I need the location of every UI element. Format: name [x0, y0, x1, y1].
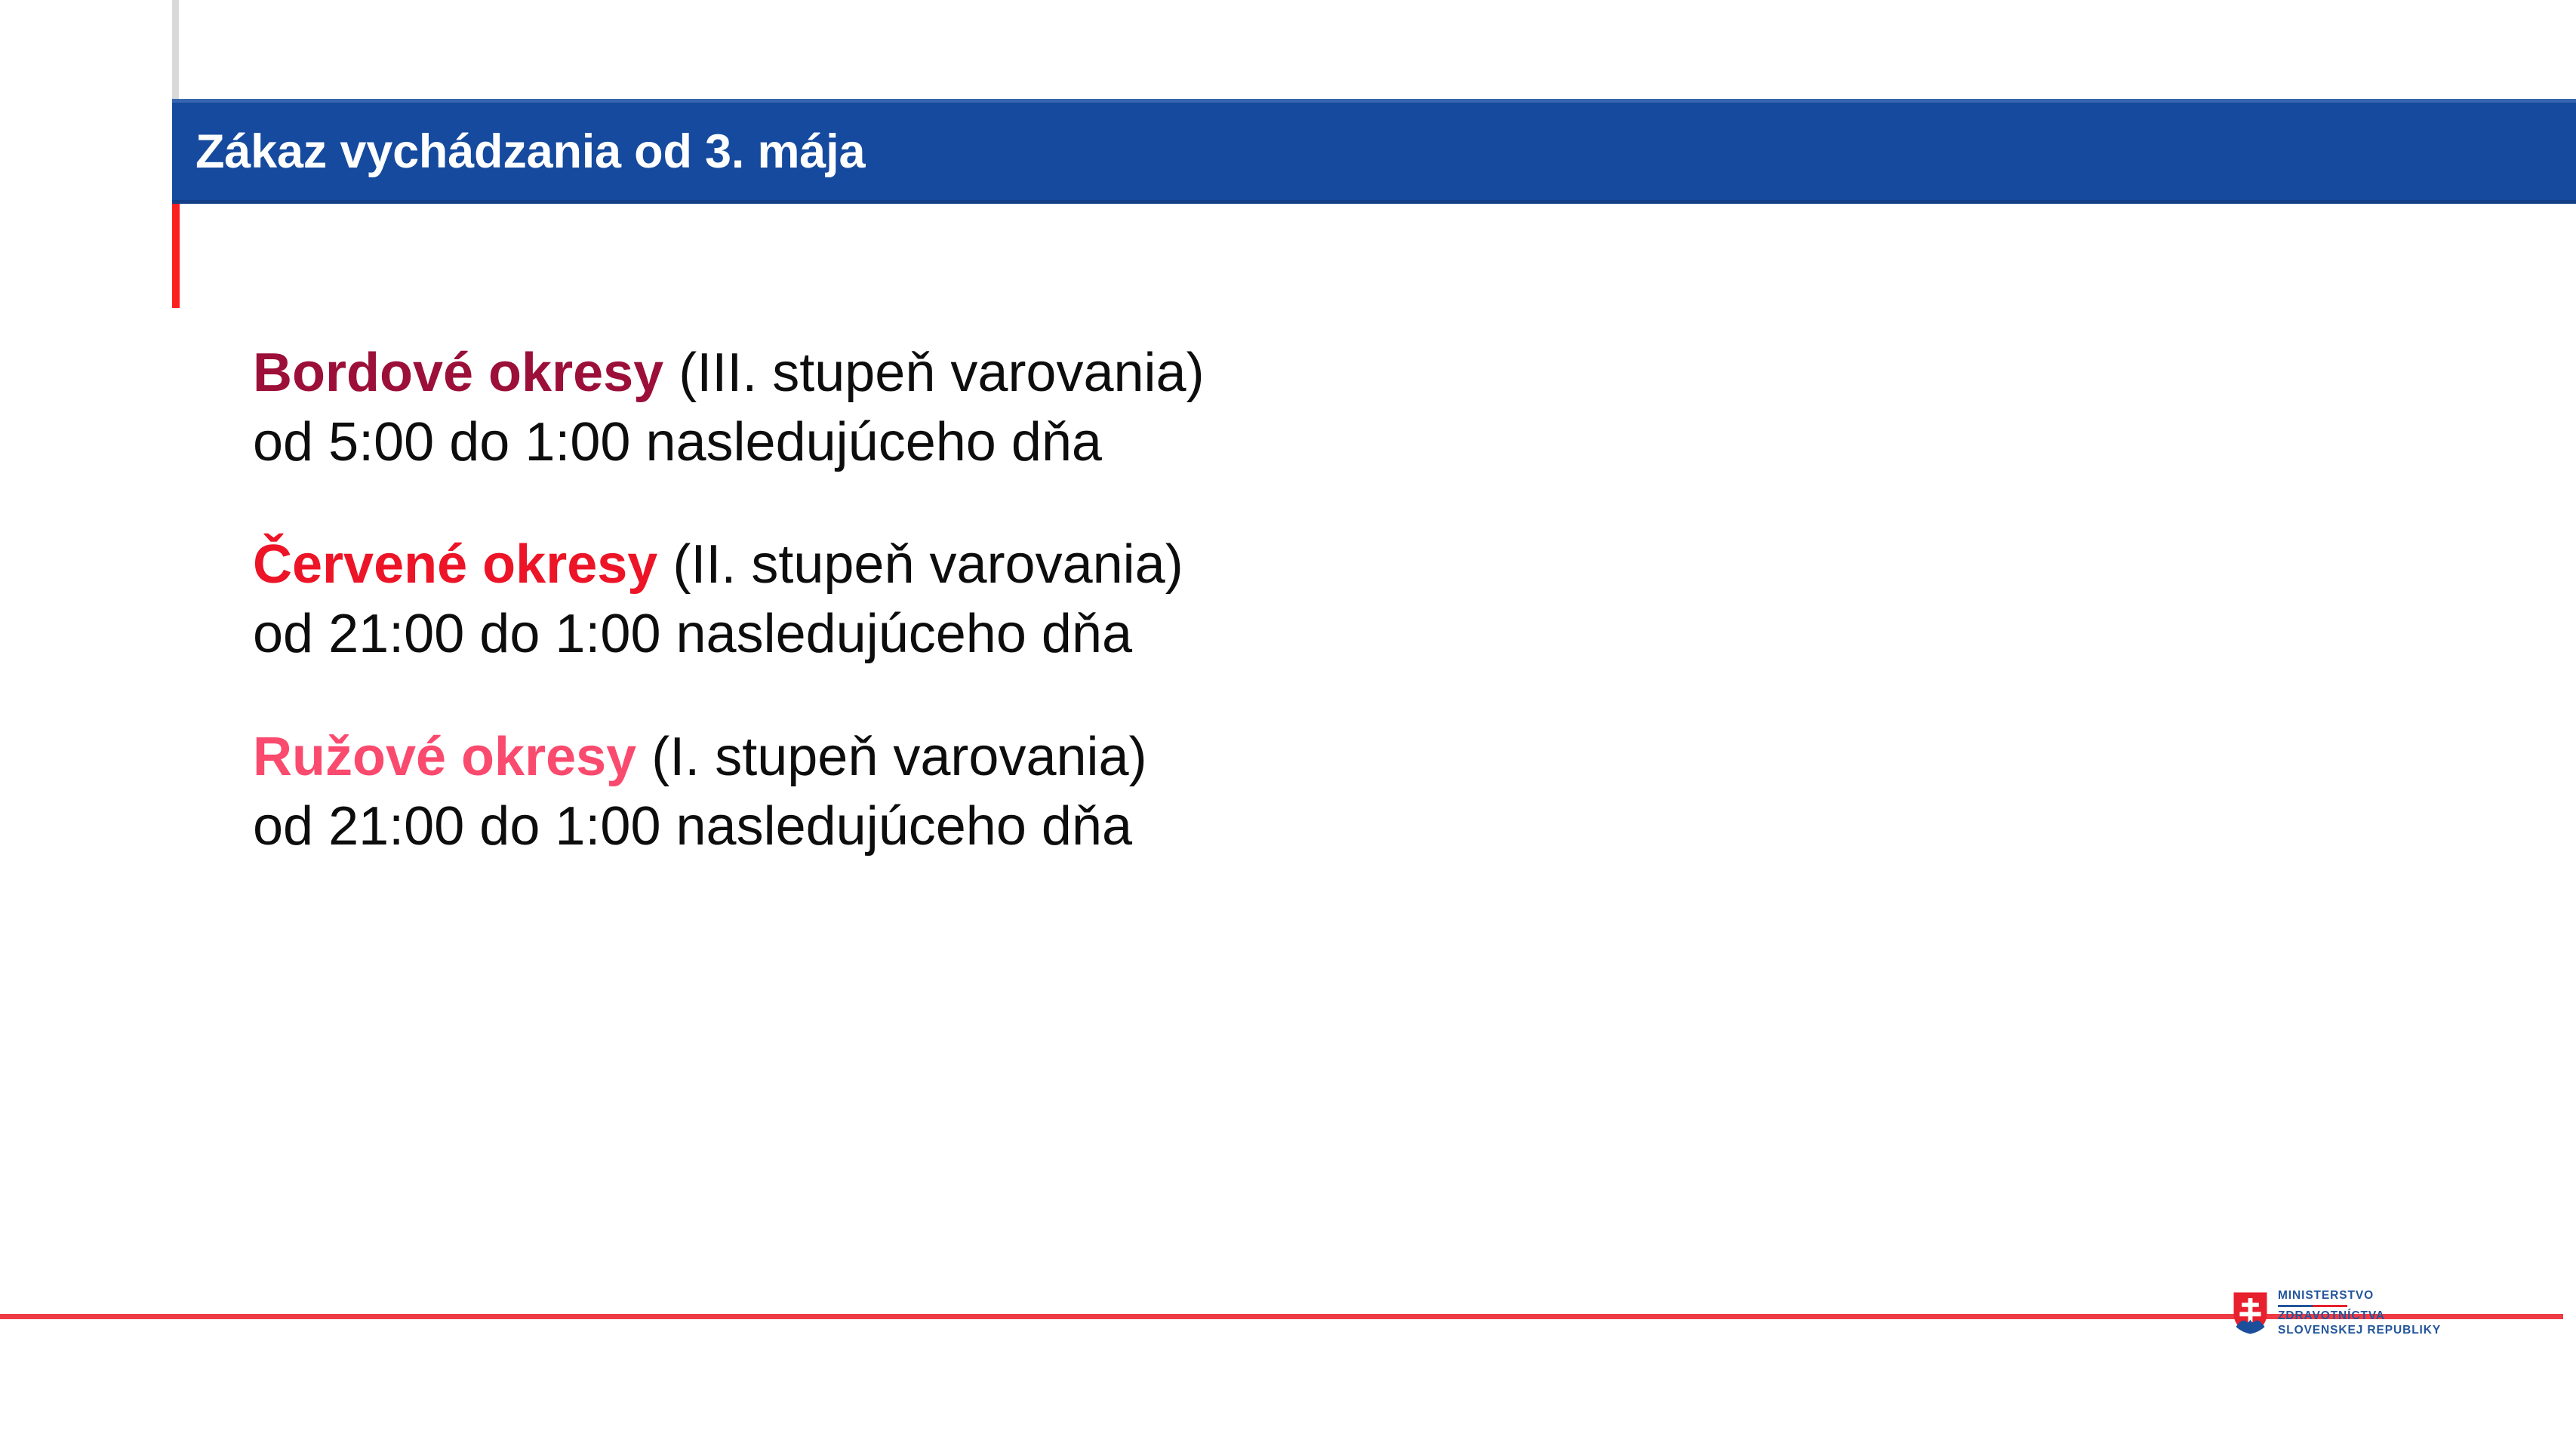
district-block-cervene: Červené okresy (II. stupeň varovania) od… — [253, 530, 2064, 669]
district-name: Bordové okresy — [253, 343, 663, 403]
slovak-coat-of-arms-icon — [2233, 1291, 2268, 1335]
district-block-ruzove: Ružové okresy (I. stupeň varovania) od 2… — [253, 722, 2064, 861]
district-heading: Bordové okresy (III. stupeň varovania) — [253, 338, 2064, 408]
banner-top-edge — [172, 99, 2576, 103]
district-heading: Červené okresy (II. stupeň varovania) — [253, 530, 2064, 599]
district-level: (II. stupeň varovania) — [657, 534, 1183, 595]
slide-body: Bordové okresy (III. stupeň varovania) o… — [253, 338, 2064, 861]
district-name: Červené okresy — [253, 534, 657, 595]
district-heading: Ružové okresy (I. stupeň varovania) — [253, 722, 2064, 792]
district-level: (III. stupeň varovania) — [663, 343, 1204, 403]
presentation-slide: Zákaz vychádzania od 3. mája Bordové okr… — [0, 0, 2576, 1449]
district-level: (I. stupeň varovania) — [636, 727, 1146, 787]
district-curfew-hours: od 21:00 do 1:00 nasledujúceho dňa — [253, 599, 2064, 669]
accent-bar-gray — [172, 0, 179, 99]
ministry-logo-line-3: SLOVENSKEJ REPUBLIKY — [2278, 1324, 2441, 1338]
ministry-logo: MINISTERSTVO ZDRAVOTNÍCTVA SLOVENSKEJ RE… — [2233, 1289, 2441, 1338]
ministry-logo-divider — [2278, 1305, 2347, 1307]
district-curfew-hours: od 5:00 do 1:00 nasledujúceho dňa — [253, 408, 2064, 477]
ministry-logo-line-1: MINISTERSTVO — [2278, 1289, 2441, 1303]
slide-title: Zákaz vychádzania od 3. mája — [172, 125, 865, 179]
footer-divider-line — [0, 1314, 2563, 1319]
ministry-logo-line-2: ZDRAVOTNÍCTVA — [2278, 1309, 2441, 1324]
accent-bar-red — [172, 204, 180, 308]
title-banner: Zákaz vychádzania od 3. mája — [172, 99, 2576, 204]
district-name: Ružové okresy — [253, 727, 636, 787]
district-curfew-hours: od 21:00 do 1:00 nasledujúceho dňa — [253, 792, 2064, 861]
district-block-bordove: Bordové okresy (III. stupeň varovania) o… — [253, 338, 2064, 477]
banner-bottom-edge — [172, 200, 2576, 204]
ministry-logo-text: MINISTERSTVO ZDRAVOTNÍCTVA SLOVENSKEJ RE… — [2278, 1289, 2441, 1338]
